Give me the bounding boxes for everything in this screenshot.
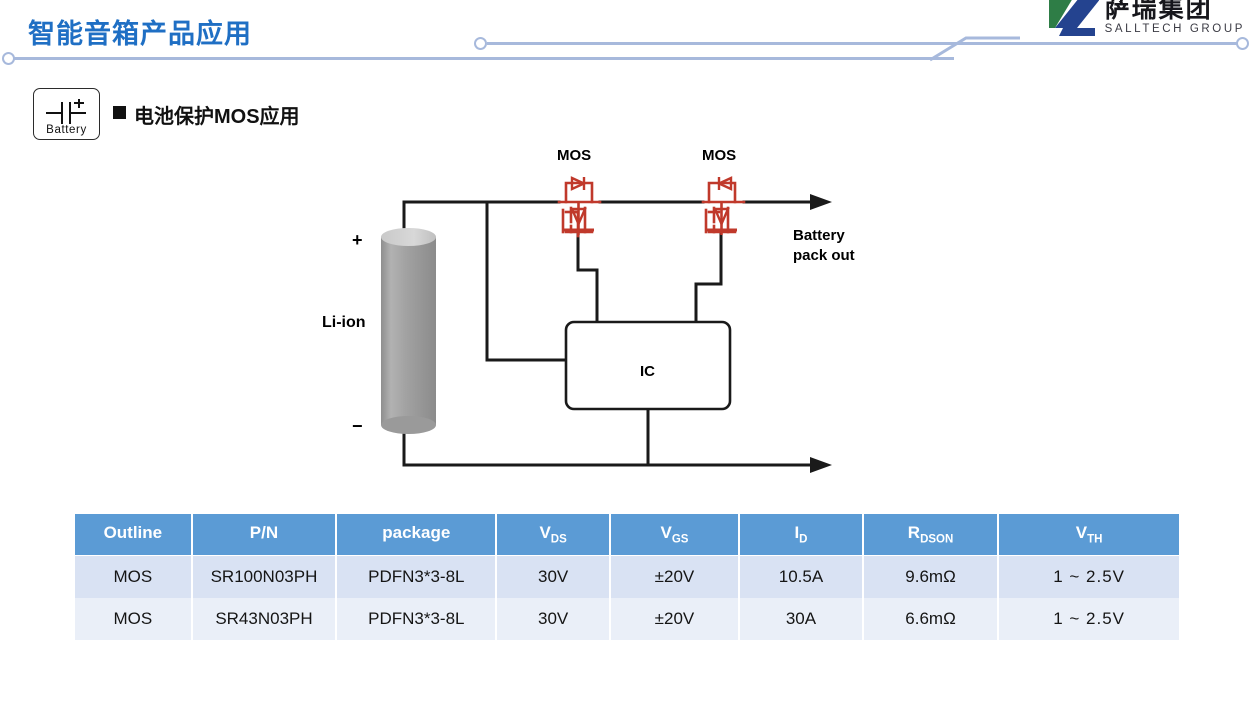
brand-logo: 萨瑞集团 SALLTECH GROUP [1047,0,1245,38]
cell-vth: 1 ~ 2.5V [998,556,1179,599]
cell-package: PDFN3*3-8L [336,556,496,599]
logo-company-cn: 萨瑞集团 [1105,0,1245,22]
li-ion-battery-symbol [381,228,436,434]
capacitor-battery-icon [44,99,90,125]
table-row: MOS SR100N03PH PDFN3*3-8L 30V ±20V 10.5A… [75,556,1179,599]
section-title: 电池保护MOS应用 [134,100,300,129]
battery-minus-label: − [352,416,363,437]
mos-left-label: MOS [557,147,591,164]
cell-package: PDFN3*3-8L [336,598,496,640]
col-header-outline[interactable]: Outline [75,514,192,556]
cell-id: 30A [739,598,863,640]
circuit-diagram [0,0,1255,500]
header-decor-circle-mid [474,37,487,50]
cell-vgs: ±20V [610,556,739,599]
cell-rdson: 9.6mΩ [863,556,998,599]
output-label-line1: Battery [793,227,845,244]
salltech-logo-icon [1047,0,1099,38]
header-decor-circle-left [2,52,15,65]
col-header-vds[interactable]: VDS [496,514,610,556]
square-bullet-icon [113,106,126,119]
header-decor-line-upper [487,42,1237,45]
mos-right-label: MOS [702,147,736,164]
output-arrow-icon [810,194,832,210]
cell-pn: SR43N03PH [192,598,337,640]
cell-vgs: ±20V [610,598,739,640]
col-header-vth[interactable]: VTH [998,514,1179,556]
cell-outline: MOS [75,598,192,640]
cell-pn: SR100N03PH [192,556,337,599]
col-header-pn[interactable]: P/N [192,514,337,556]
col-header-vgs[interactable]: VGS [610,514,739,556]
page-title: 智能音箱产品应用 [28,12,252,51]
battery-badge: Battery [33,88,100,140]
cell-vds: 30V [496,556,610,599]
battery-badge-label: Battery [46,124,87,136]
header-decor-line-lower [14,57,954,60]
output-label-line2: pack out [793,247,855,264]
ic-label: IC [640,363,655,380]
cell-id: 10.5A [739,556,863,599]
col-header-id[interactable]: ID [739,514,863,556]
ground-arrow-icon [810,457,832,473]
logo-company-en: SALLTECH GROUP [1105,23,1245,35]
cell-rdson: 6.6mΩ [863,598,998,640]
battery-type-label: Li-ion [322,314,366,332]
mosfet-left-symbol [559,183,600,236]
table-header-row: Outline P/N package VDS VGS ID RDSON VTH [75,514,1179,556]
col-header-rdson[interactable]: RDSON [863,514,998,556]
cell-vth: 1 ~ 2.5V [998,598,1179,640]
cell-outline: MOS [75,556,192,599]
cell-vds: 30V [496,598,610,640]
battery-plus-label: + [352,230,363,251]
table-row: MOS SR43N03PH PDFN3*3-8L 30V ±20V 30A 6.… [75,598,1179,640]
header-decor-circle-right [1236,37,1249,50]
col-header-package[interactable]: package [336,514,496,556]
mosfet-right-symbol [703,183,744,232]
spec-table: Outline P/N package VDS VGS ID RDSON VTH… [75,514,1179,640]
header-decor-diagonal [930,36,1020,64]
